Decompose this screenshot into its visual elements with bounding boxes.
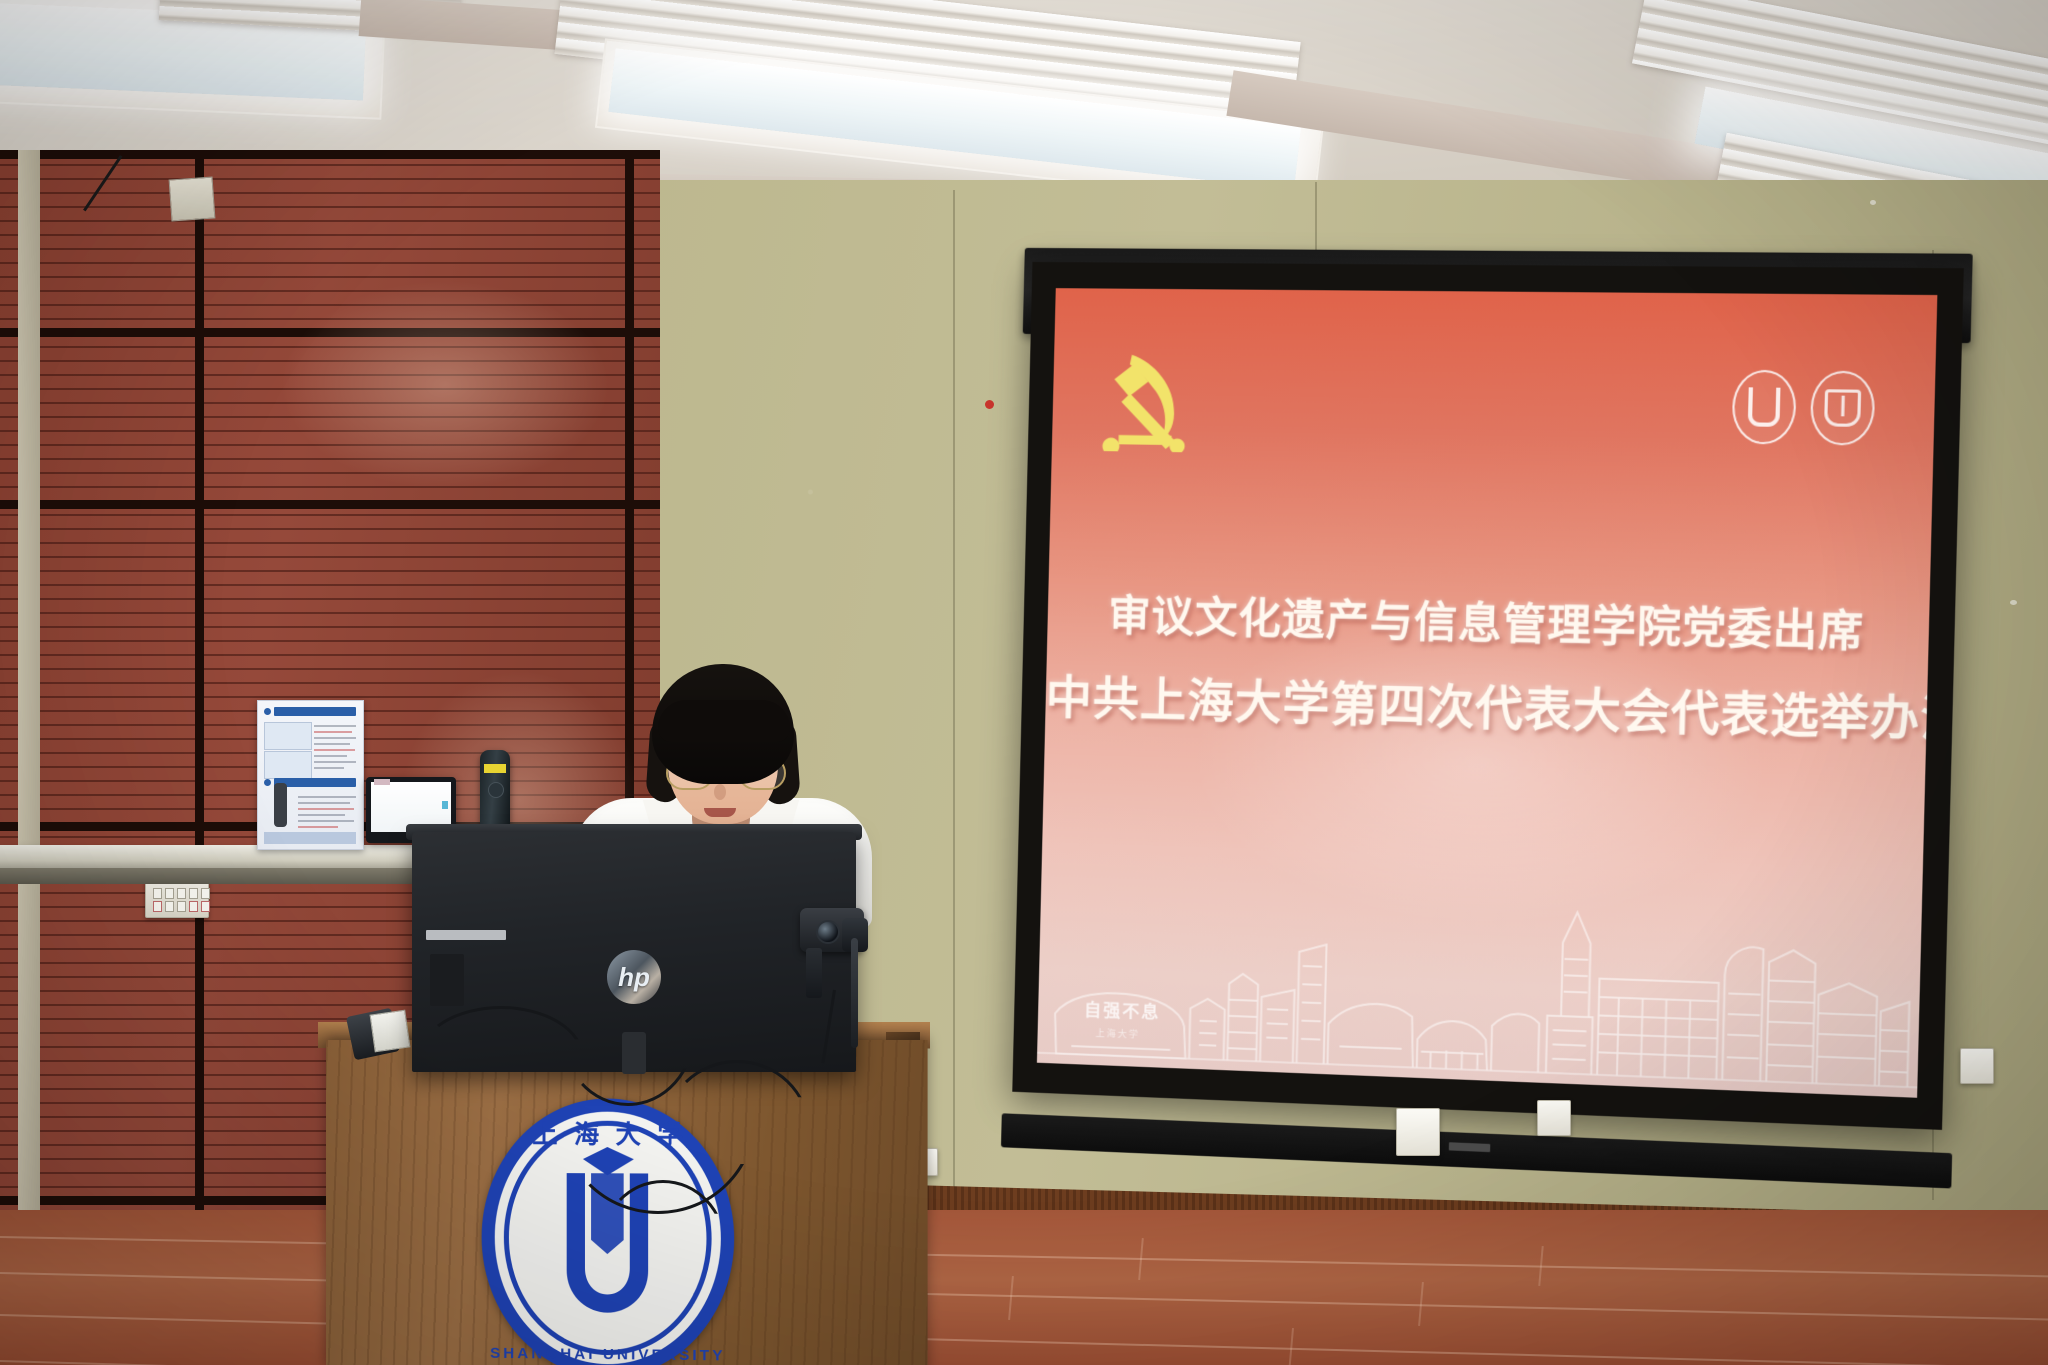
hp-logo-icon: hp bbox=[607, 950, 661, 1004]
shu-logo-english-text: SHANGHAI UNIVERSITY bbox=[482, 1345, 735, 1365]
shanghai-university-seal-icon bbox=[1731, 370, 1796, 445]
poster-logo-mid bbox=[264, 779, 271, 786]
poster-text-line bbox=[314, 737, 356, 739]
poster-text-line bbox=[314, 743, 350, 745]
poster-text-line bbox=[314, 725, 356, 727]
light-switch-row-top[interactable] bbox=[153, 888, 210, 899]
handheld-microphone-label bbox=[484, 764, 506, 773]
wall-junction-box bbox=[1396, 1108, 1440, 1156]
light-switch-row-bottom[interactable] bbox=[153, 901, 210, 912]
wall-speck-2 bbox=[2010, 600, 2017, 605]
seal-ring bbox=[1733, 371, 1796, 444]
podium: 上海大学 SHANGHAI UNIVERSITY bbox=[326, 1040, 928, 1365]
wall-seam-2 bbox=[1315, 182, 1317, 252]
wood-wall-frame-left bbox=[18, 150, 40, 1365]
light-switch-key[interactable] bbox=[201, 888, 210, 899]
wall-outlet-plate bbox=[1960, 1048, 1994, 1084]
av-control-panel-indicator bbox=[442, 801, 448, 809]
poster-logo-top bbox=[264, 708, 271, 715]
slide-title-line-2: 中共上海大学第四次代表大会代表选举办法 bbox=[1045, 661, 1928, 750]
projection-screen-brand-tag bbox=[1448, 1142, 1490, 1152]
poster-text-line bbox=[298, 814, 345, 816]
wood-panel-gap-v1 bbox=[195, 150, 204, 1365]
wood-panel-gap-h2 bbox=[0, 328, 660, 337]
floor bbox=[0, 1210, 2048, 1365]
presenter-mouth bbox=[704, 808, 736, 817]
light-switch-key[interactable] bbox=[165, 901, 174, 912]
stone-inscription-text: 自强不息 bbox=[1084, 995, 1161, 1023]
hp-monitor[interactable]: hp bbox=[412, 832, 856, 1072]
floor-plank-seam bbox=[0, 1314, 2048, 1365]
conference-room-scene: 审议文化遗产与信息管理学院党委出席 中共上海大学第四次代表大会代表选举办法 bbox=[0, 0, 2048, 1365]
wall-switch-plate bbox=[1537, 1100, 1571, 1136]
poster-text-line bbox=[314, 731, 352, 733]
webcam-lens-icon bbox=[816, 920, 840, 944]
poster-text-line bbox=[314, 755, 347, 757]
monitor-port-panel bbox=[430, 954, 464, 1006]
shanghai-university-logo: 上海大学 SHANGHAI UNIVERSITY bbox=[482, 1098, 735, 1365]
floor-plank-seam bbox=[0, 1272, 2048, 1322]
poster-text-line bbox=[314, 767, 344, 769]
slide-title-line-1: 审议文化遗产与信息管理学院党委出席 bbox=[1047, 580, 1930, 661]
floor-tile-seam bbox=[1008, 1276, 1014, 1320]
light-switch-key[interactable] bbox=[177, 888, 186, 899]
stone-inscription-subtext: 上海大学 bbox=[1095, 1026, 1139, 1041]
poster-text-line bbox=[298, 826, 338, 828]
institute-seal-icon bbox=[1810, 370, 1876, 445]
light-switch-key[interactable] bbox=[189, 901, 198, 912]
wood-panel-gap-h1 bbox=[0, 150, 660, 159]
poster-text-line bbox=[298, 802, 350, 804]
podium-clip-card bbox=[370, 1010, 411, 1053]
hammer-and-sickle-icon bbox=[1094, 347, 1191, 453]
wood-wall-highlight bbox=[280, 280, 610, 490]
av-control-panel-tab bbox=[374, 779, 390, 785]
poster-footer-bar bbox=[264, 832, 356, 844]
handheld-microphone-button[interactable] bbox=[488, 782, 504, 798]
webcam-clip bbox=[806, 948, 822, 998]
wall-red-dot-sticker bbox=[985, 400, 994, 409]
wall-speck-3 bbox=[1870, 200, 1876, 205]
poster-text-line bbox=[298, 808, 354, 810]
gooseneck-microphone-stem bbox=[851, 938, 858, 1048]
light-switch-key[interactable] bbox=[189, 888, 198, 899]
presentation-slide: 审议文化遗产与信息管理学院党委出席 中共上海大学第四次代表大会代表选举办法 bbox=[1037, 288, 1937, 1098]
poster-header-bar-top bbox=[274, 707, 356, 716]
presenter-bangs bbox=[658, 700, 790, 742]
light-switch-key[interactable] bbox=[153, 901, 162, 912]
poster-text-line bbox=[298, 820, 354, 822]
poster-diagram-2 bbox=[264, 751, 312, 779]
wall-seam-1 bbox=[953, 190, 955, 1190]
light-switch-panel[interactable] bbox=[145, 880, 209, 918]
shu-logo-chinese-text: 上海大学 bbox=[482, 1114, 735, 1151]
wall-mount-plate bbox=[169, 177, 216, 222]
light-switch-key[interactable] bbox=[153, 888, 162, 899]
av-instruction-poster bbox=[257, 700, 364, 850]
campus-skyline-illustration bbox=[1037, 885, 1922, 1090]
light-switch-key[interactable] bbox=[177, 901, 186, 912]
poster-diagram-1 bbox=[264, 722, 312, 750]
wood-panel-gap-h3 bbox=[0, 500, 660, 509]
slide-logo-group bbox=[1731, 370, 1875, 446]
presenter-nose bbox=[714, 784, 726, 800]
poster-text-line bbox=[314, 749, 355, 751]
seal-book-mark bbox=[1824, 389, 1861, 427]
monitor-asset-tag bbox=[426, 930, 506, 940]
floor-tile-seam bbox=[1288, 1328, 1294, 1365]
monitor-stand bbox=[622, 1032, 646, 1074]
light-switch-key[interactable] bbox=[201, 901, 210, 912]
poster-text-line bbox=[298, 796, 356, 798]
light-switch-key[interactable] bbox=[165, 888, 174, 899]
hp-logo-text: hp bbox=[618, 962, 650, 993]
poster-device-illustration bbox=[274, 783, 287, 827]
floor-plank-seam bbox=[0, 1236, 2048, 1278]
projection-screen-frame: 审议文化遗产与信息管理学院党委出席 中共上海大学第四次代表大会代表选举办法 bbox=[1012, 262, 1964, 1130]
poster-text-line bbox=[314, 761, 356, 763]
projection-screen: 审议文化遗产与信息管理学院党委出席 中共上海大学第四次代表大会代表选举办法 bbox=[1012, 262, 1964, 1161]
